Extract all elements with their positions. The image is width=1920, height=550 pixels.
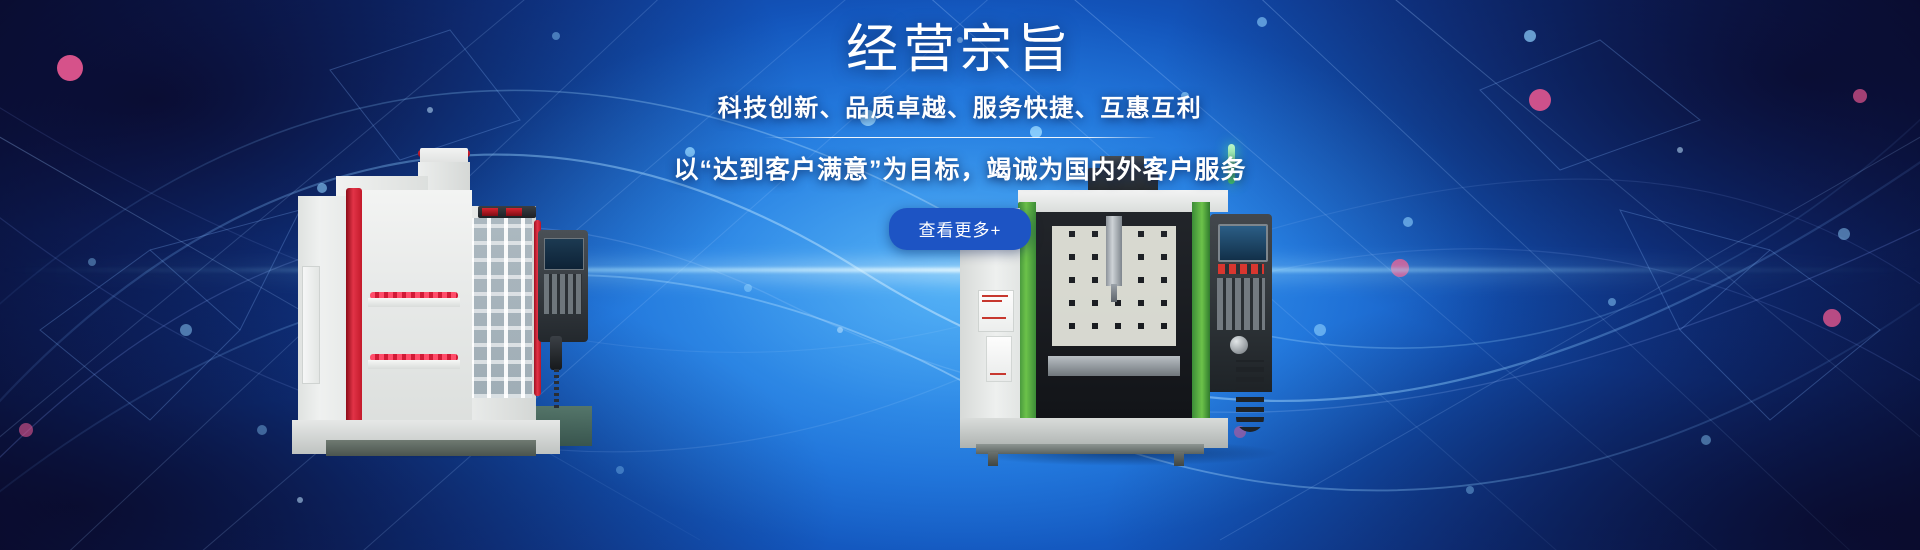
machine-plinth	[326, 440, 536, 456]
machine-feed-knob	[1230, 336, 1248, 354]
label-line	[990, 373, 1006, 375]
label-line	[982, 300, 1002, 302]
banner-tagline: 以“达到客户满意”为目标，竭诚为国内外客户服务	[0, 150, 1920, 186]
machine-shelf-lower	[368, 360, 460, 369]
machine-shelf-upper	[368, 298, 460, 307]
machine-leg-left	[988, 452, 998, 466]
view-more-button[interactable]: 查看更多+	[889, 208, 1032, 250]
label-line	[982, 295, 1008, 297]
machine-warning-label	[978, 290, 1014, 332]
machine-button-row	[1218, 264, 1264, 274]
banner-copy: 经营宗旨 科技创新、品质卓越、服务快捷、互惠互利 以“达到客户满意”为目标，竭诚…	[0, 22, 1920, 250]
machine-handset	[550, 336, 562, 370]
divider	[764, 137, 1156, 138]
machine-handset-cord	[554, 368, 559, 408]
machine-control-keypad	[544, 274, 582, 314]
hero-banner: 经营宗旨 科技创新、品质卓越、服务快捷、互惠互利 以“达到客户满意”为目标，竭诚…	[0, 0, 1920, 550]
machine-spindle-tip	[1111, 284, 1117, 302]
machine-foot-rail	[976, 444, 1204, 454]
machine-work-table	[1048, 356, 1180, 376]
machine-leg-right	[1174, 452, 1184, 466]
label-line	[982, 317, 1006, 319]
banner-subtitle: 科技创新、品质卓越、服务快捷、互惠互利	[0, 88, 1920, 123]
machine-spec-label	[986, 336, 1012, 382]
cta-wrapper: 查看更多+	[0, 208, 1920, 250]
page-title: 经营宗旨	[0, 22, 1920, 78]
machine-side-door	[302, 266, 320, 384]
machine-coiled-cord	[1236, 360, 1264, 432]
machine-control-keypad	[1217, 278, 1265, 330]
